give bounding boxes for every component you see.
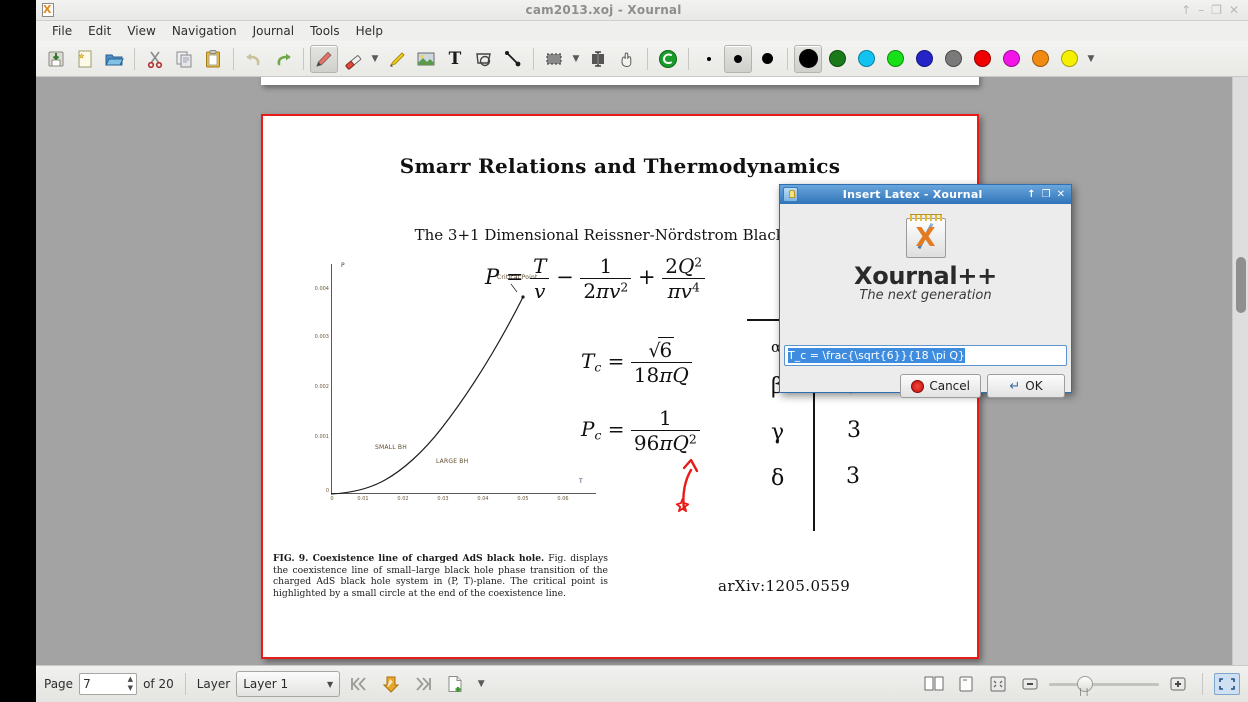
app-tagline: The next generation: [780, 288, 1071, 303]
chevron-down-icon[interactable]: ▼: [1084, 45, 1098, 73]
new-button[interactable]: [71, 45, 99, 73]
window-maximize-button[interactable]: ❐: [1211, 3, 1222, 17]
statusbar-separator: [1202, 673, 1203, 695]
zoom-in-button[interactable]: [1165, 671, 1191, 697]
dialog-titlebar: Insert Latex - Xournal ↑ ❐ ✕: [780, 185, 1071, 204]
save-button[interactable]: [42, 45, 70, 73]
dialog-shade-button[interactable]: ↑: [1027, 189, 1035, 200]
ok-button[interactable]: ↵ OK: [987, 374, 1065, 398]
color-red-button[interactable]: [968, 45, 996, 73]
layer-select[interactable]: Layer 1 ▼: [236, 671, 340, 697]
color-orange-button[interactable]: [1026, 45, 1054, 73]
caption-lead: FIG. 9. Coexistence line of charged AdS …: [273, 553, 544, 564]
undo-button[interactable]: [240, 45, 268, 73]
scrollbar-thumb[interactable]: [1236, 257, 1246, 313]
vertical-space-button[interactable]: [584, 45, 612, 73]
menu-edit[interactable]: Edit: [80, 22, 119, 40]
toolbar-separator: [647, 48, 648, 70]
arxiv-reference: arXiv:1205.0559: [718, 577, 850, 595]
page-total-label: of 20: [143, 677, 174, 691]
window-title: cam2013.xoj - Xournal: [26, 3, 1181, 17]
highlighter-tool-button[interactable]: [383, 45, 411, 73]
x-tick-6: 0.06: [551, 496, 575, 502]
new-page-button[interactable]: [442, 671, 468, 697]
red-arrow-and-star-annotation: [671, 454, 713, 516]
menu-file[interactable]: File: [44, 22, 80, 40]
first-page-button[interactable]: [346, 671, 372, 697]
color-blue-button[interactable]: [910, 45, 938, 73]
handwritten-symbol-delta: δ: [771, 466, 784, 491]
layer-select-value: Layer 1: [243, 677, 288, 691]
two-page-view-button[interactable]: [921, 671, 947, 697]
color-yellow-button[interactable]: [1055, 45, 1083, 73]
cancel-button[interactable]: Cancel: [900, 374, 981, 398]
chevron-down-icon[interactable]: ▼: [569, 45, 583, 73]
menu-navigation[interactable]: Navigation: [164, 22, 245, 40]
dialog-icon: [783, 187, 798, 202]
thin-width-button[interactable]: [695, 45, 723, 73]
x-tick-4: 0.04: [471, 496, 495, 502]
x-tick-0: 0: [320, 496, 344, 502]
layer-label: Layer: [197, 677, 230, 691]
equation-critical-pressure: Pc = 196πQ2: [581, 406, 700, 455]
cut-button[interactable]: [141, 45, 169, 73]
page-label: Page: [44, 677, 73, 691]
toolbar-separator: [303, 48, 304, 70]
menu-journal[interactable]: Journal: [245, 22, 303, 40]
x-tick-1: 0.01: [351, 496, 375, 502]
latex-input[interactable]: T_c = \frac{\sqrt{6}}{18 \pi Q}: [784, 345, 1067, 366]
medium-width-button[interactable]: [724, 45, 752, 73]
color-green-button[interactable]: [881, 45, 909, 73]
window-shade-button[interactable]: ↑: [1181, 3, 1191, 17]
main-toolbar: ▼ T ▼: [36, 41, 1248, 77]
text-tool-button[interactable]: T: [441, 45, 469, 73]
open-button[interactable]: [100, 45, 128, 73]
redo-button[interactable]: [269, 45, 297, 73]
dialog-title: Insert Latex - Xournal: [798, 188, 1027, 201]
app-name-heading: Xournal++: [780, 262, 1071, 290]
x-tick-2: 0.02: [391, 496, 415, 502]
zoom-slider[interactable]: ||: [1049, 674, 1159, 694]
annotation-large-bh: LARGE BH: [436, 458, 468, 465]
line-tool-button[interactable]: [499, 45, 527, 73]
window-close-button[interactable]: ✕: [1229, 3, 1239, 17]
thick-width-button[interactable]: [753, 45, 781, 73]
x-tick-5: 0.05: [511, 496, 535, 502]
fullscreen-button[interactable]: [1214, 673, 1240, 695]
toolbar-separator: [688, 48, 689, 70]
page-menu-button[interactable]: ▼: [474, 670, 488, 698]
y-tick-0: 0: [301, 488, 329, 494]
shape-tool-button[interactable]: [470, 45, 498, 73]
menu-tools[interactable]: Tools: [302, 22, 348, 40]
y-tick-2: 0.002: [301, 384, 329, 390]
dialog-maximize-button[interactable]: ❐: [1042, 189, 1051, 200]
page-number-input[interactable]: 7 ▲▼: [79, 673, 137, 695]
last-page-button[interactable]: [410, 671, 436, 697]
zoom-slider-track: [1049, 683, 1159, 686]
y-tick-1: 0.001: [301, 434, 329, 440]
select-rectangle-button[interactable]: [540, 45, 568, 73]
equation-critical-temperature: Tc = √618πQ: [581, 338, 692, 387]
chevron-down-icon: ▼: [327, 680, 333, 689]
page-spinner-arrows[interactable]: ▲▼: [128, 675, 133, 693]
paste-button[interactable]: [199, 45, 227, 73]
y-tick-3: 0.003: [301, 334, 329, 340]
latex-button[interactable]: [654, 45, 682, 73]
toolbar-separator: [134, 48, 135, 70]
handwritten-value-delta: 3: [846, 464, 860, 489]
hand-tool-button[interactable]: [613, 45, 641, 73]
ok-button-label: OK: [1025, 379, 1042, 393]
latex-input-value: T_c = \frac{\sqrt{6}}{18 \pi Q}: [788, 348, 965, 363]
copy-button[interactable]: [170, 45, 198, 73]
figure-caption: FIG. 9. Coexistence line of charged AdS …: [273, 553, 608, 599]
vertical-scrollbar[interactable]: [1232, 77, 1248, 665]
color-cyan-button[interactable]: [852, 45, 880, 73]
color-black-button[interactable]: [794, 45, 822, 73]
previous-page[interactable]: [261, 77, 979, 85]
handwritten-value-gamma: 3: [847, 418, 861, 443]
menu-help[interactable]: Help: [348, 22, 391, 40]
page-number-value: 7: [83, 677, 91, 691]
window-minimize-button[interactable]: –: [1198, 3, 1204, 17]
annotation-small-bh: SMALL BH: [375, 444, 407, 451]
stop-icon: [911, 380, 924, 393]
statusbar: Page 7 ▲▼ of 20 Layer Layer 1 ▼ ▼: [36, 665, 1248, 702]
window-titlebar: X cam2013.xoj - Xournal ↑ – ❐ ✕: [36, 0, 1248, 21]
single-page-view-button[interactable]: [953, 671, 979, 697]
menubar: File Edit View Navigation Journal Tools …: [36, 21, 1248, 41]
menu-view[interactable]: View: [119, 22, 163, 40]
toolbar-separator: [787, 48, 788, 70]
dialog-close-button[interactable]: ✕: [1057, 189, 1065, 200]
xournal-window: X cam2013.xoj - Xournal ↑ – ❐ ✕ File Edi…: [0, 0, 1248, 702]
fit-page-button[interactable]: [985, 671, 1011, 697]
y-tick-4: 0.004: [301, 286, 329, 292]
pen-tool-button[interactable]: [310, 45, 338, 73]
xournalpp-logo-icon: X: [904, 212, 948, 258]
color-dark-green-button[interactable]: [823, 45, 851, 73]
eraser-tool-button[interactable]: [339, 45, 367, 73]
handwritten-symbol-gamma: γ: [771, 420, 784, 445]
x-tick-3: 0.03: [431, 496, 455, 502]
insert-latex-dialog[interactable]: Insert Latex - Xournal ↑ ❐ ✕ X Xournal++…: [779, 184, 1072, 393]
dialog-body: X Xournal++ The next generation T_c = \f…: [780, 204, 1071, 394]
cancel-button-label: Cancel: [929, 379, 970, 393]
xournal-app-icon: X: [40, 2, 56, 18]
chevron-down-icon[interactable]: ▼: [368, 45, 382, 73]
color-magenta-button[interactable]: [997, 45, 1025, 73]
toolbar-separator: [233, 48, 234, 70]
zoom-slider-ticks: ||: [1079, 687, 1092, 696]
color-gray-button[interactable]: [939, 45, 967, 73]
enter-arrow-icon: ↵: [1009, 379, 1020, 394]
statusbar-separator: [185, 673, 186, 695]
insert-page-down-button[interactable]: [378, 671, 404, 697]
image-tool-button[interactable]: [412, 45, 440, 73]
slide-title: Smarr Relations and Thermodynamics: [263, 154, 977, 178]
zoom-out-button[interactable]: [1017, 671, 1043, 697]
toolbar-separator: [533, 48, 534, 70]
equation-equation-of-state: P = Tv − 12πv2 + 2Q2πv4: [485, 254, 705, 303]
